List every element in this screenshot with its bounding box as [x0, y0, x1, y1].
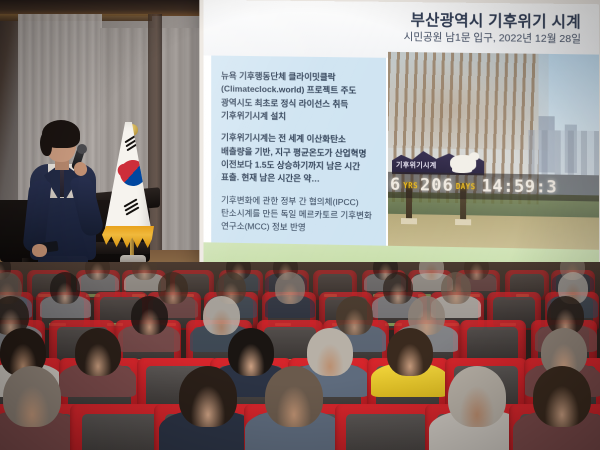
presentation-slide: 부산광역시 기후위기 시계 시민공원 남1문 입구, 2022년 12월 28일… — [203, 0, 599, 284]
audience-member-head — [275, 272, 305, 304]
tree-trunk-base — [455, 219, 471, 225]
audience-member-head — [158, 272, 188, 304]
audience-member-head — [132, 262, 157, 280]
audience-member-head — [533, 366, 591, 427]
audience-member-head — [336, 296, 373, 335]
slide-paragraph-1: 뉴욕 기후행동단체 클라이밋클락 (Climateclock.world) 프로… — [221, 70, 378, 125]
photo-scene: 부산광역시 기후위기 시계 시민공원 남1문 입구, 2022년 12월 28일… — [0, 0, 600, 450]
tree-trunk-base — [401, 218, 417, 224]
flag-cloth — [104, 122, 152, 234]
audience-member-head — [131, 296, 168, 335]
slide-paragraph-2: 기후위기시계는 전 세계 이산화탄소 배출량을 기반, 지구 평균온도가 산업혁… — [221, 131, 378, 187]
clock-time-value: 14:59:3 — [482, 176, 558, 197]
audience-member-head — [448, 366, 506, 427]
audience-area — [0, 262, 600, 450]
climate-clock-sign-label: 기후위기시계 — [396, 160, 436, 171]
slide-photo-climate-clock: 기후위기시계 6 YRS 206 DAYS 14:59:3 — [388, 52, 599, 252]
audience-member-head — [265, 366, 323, 427]
seat-cushion — [346, 414, 427, 450]
microphone-head — [77, 144, 87, 154]
flag-fringe — [102, 226, 154, 248]
slide-subtitle: 시민공원 남1문 입구, 2022년 12월 28일 — [404, 29, 581, 46]
slide-text-panel: 뉴욕 기후행동단체 클라이밋클락 (Climateclock.world) 프로… — [211, 56, 386, 246]
audience-member-head — [3, 366, 61, 427]
speaker-hair-side — [40, 132, 52, 156]
audience-member-head — [228, 328, 274, 376]
audience-member-head — [419, 262, 444, 280]
polar-bear-icon — [450, 155, 476, 171]
audience-member-head — [387, 328, 433, 376]
clock-years-value: 6 — [390, 175, 401, 195]
clock-days-unit: DAYS — [456, 181, 476, 190]
clock-days-value: 206 — [420, 175, 454, 196]
audience-member-head — [307, 328, 353, 376]
audience-member-head — [179, 366, 237, 427]
climate-clock-digits: 6 YRS 206 DAYS 14:59:3 — [390, 173, 599, 201]
auditorium-seat — [335, 404, 439, 450]
audience-member-head — [203, 296, 240, 335]
audience-member-head — [441, 272, 471, 304]
speaker-hand-left — [32, 244, 47, 257]
taeguk-circle — [115, 155, 150, 190]
slide-paragraph-3: 기후변화에 관한 정부 간 협의체(IPCC) 탄소시계를 만든 독일 메르카토… — [221, 193, 378, 236]
clock-years-unit: YRS — [403, 181, 418, 190]
seat-cushion — [82, 414, 163, 450]
audience-member-head — [50, 272, 80, 304]
audience-member-head — [75, 328, 121, 376]
city-skyline — [528, 130, 599, 175]
audience-member-head — [383, 272, 413, 304]
